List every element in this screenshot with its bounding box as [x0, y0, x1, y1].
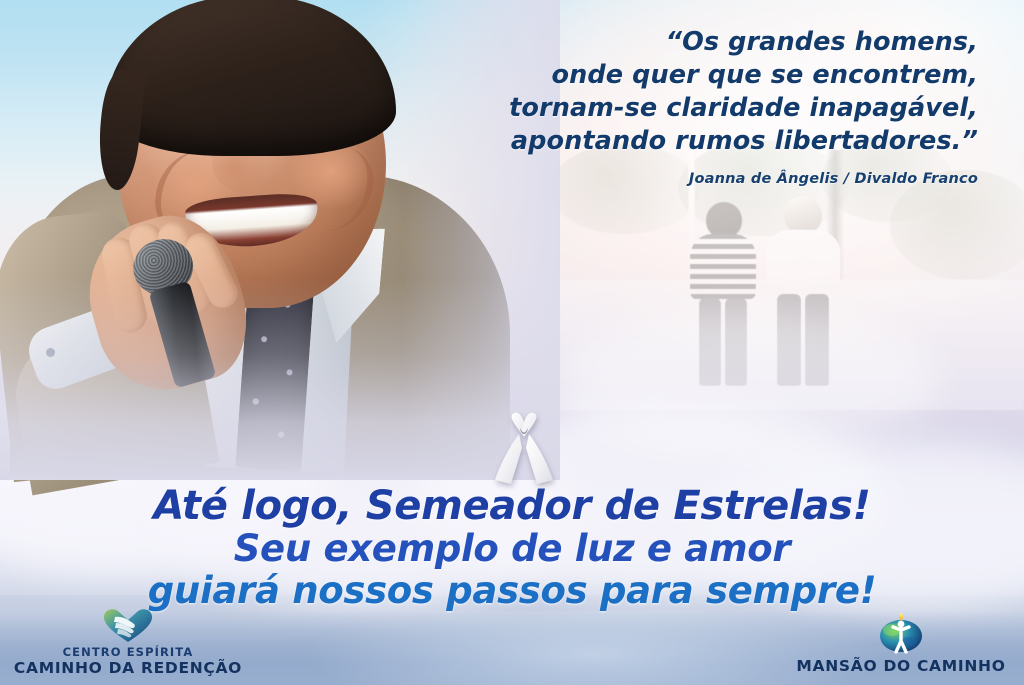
quote-line-2: onde quer que se encontrem,	[418, 59, 978, 92]
headline-line-3: guiará nossos passos para sempre!	[0, 570, 1024, 612]
logo-mansao-do-caminho: MANSÃO DO CAMINHO	[786, 612, 1016, 675]
quote-line-4: apontando rumos libertadores.”	[418, 125, 978, 158]
logo-centro-espirita: CENTRO ESPÍRITA CAMINHO DA REDENÇÃO	[8, 607, 248, 677]
logo-left-line-1: CENTRO ESPÍRITA	[8, 646, 248, 659]
headline-block: Até logo, Semeador de Estrelas! Seu exem…	[0, 484, 1024, 612]
headline-line-1: Até logo, Semeador de Estrelas!	[0, 484, 1024, 528]
quote-line-3: tornam-se claridade inapagável,	[418, 92, 978, 125]
memorial-poster: “Os grandes homens, onde quer que se enc…	[0, 0, 1024, 685]
quote-attribution: Joanna de Ângelis / Divaldo Franco	[418, 171, 978, 187]
globe-figure-flame-logo-icon	[786, 612, 1016, 654]
headline-line-2: Seu exemplo de luz e amor	[0, 528, 1024, 570]
logo-left-line-2: CAMINHO DA REDENÇÃO	[8, 659, 248, 677]
logo-right-line-1: MANSÃO DO CAMINHO	[786, 657, 1016, 675]
heart-hands-logo-icon	[8, 607, 248, 643]
quote-line-1: “Os grandes homens,	[418, 26, 978, 59]
quote-block: “Os grandes homens, onde quer que se enc…	[418, 26, 978, 187]
